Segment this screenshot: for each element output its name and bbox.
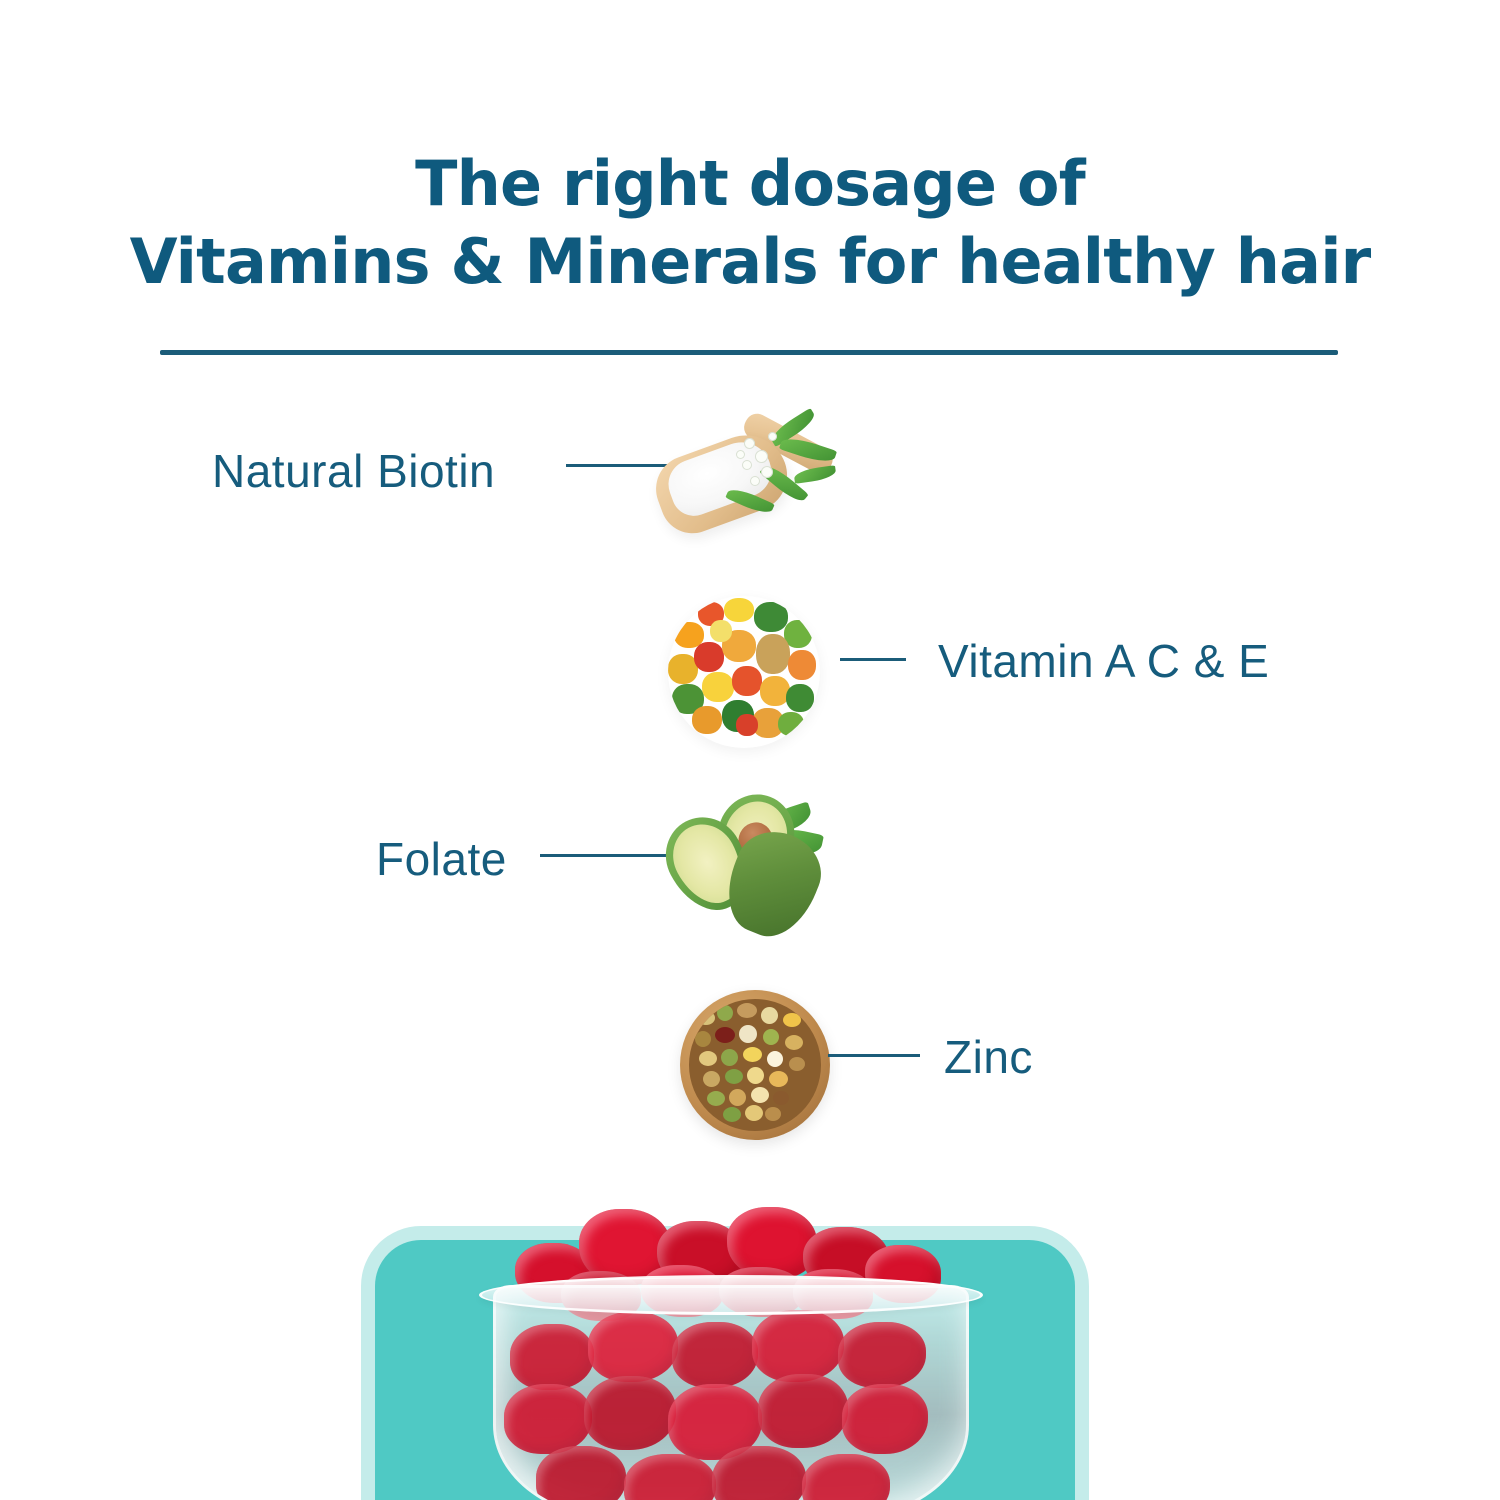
avocado-halves-photo [668, 794, 833, 934]
infographic-page: The right dosage of Vitamins & Minerals … [0, 0, 1500, 1500]
white-flower-icon [761, 466, 773, 478]
legume-piece [703, 1071, 720, 1087]
ingredient-label-vitamin-ace: Vitamin A C & E [938, 638, 1269, 684]
legume-piece [773, 1091, 789, 1105]
produce-piece [754, 602, 788, 632]
gummy-piece-inside [838, 1322, 926, 1388]
produce-piece [732, 666, 762, 696]
gummy-piece-inside [624, 1454, 716, 1500]
white-flower-icon [750, 476, 760, 486]
gummy-piece-inside [588, 1312, 678, 1382]
produce-piece [778, 712, 804, 736]
legume-piece [707, 1091, 725, 1106]
gummy-piece-inside [672, 1322, 758, 1388]
produce-piece [692, 706, 722, 734]
gummy-piece-inside [842, 1384, 928, 1454]
legume-piece [783, 1013, 801, 1027]
legume-mix-area [689, 999, 821, 1131]
legume-piece [695, 1031, 711, 1047]
ingredient-row-natural-biotin: Natural Biotin [0, 400, 1500, 570]
produce-piece [788, 650, 816, 680]
page-title-line-2: Vitamins & Minerals for healthy hair [0, 223, 1500, 301]
legume-piece [789, 1057, 805, 1071]
gummy-piece-inside [802, 1454, 890, 1500]
legume-piece [743, 1047, 762, 1062]
ingredient-label-zinc: Zinc [944, 1034, 1033, 1080]
ingredient-row-vitamin-ace: Vitamin A C & E [0, 590, 1500, 760]
produce-piece [724, 598, 754, 622]
fruits-and-vegetables-circle-photo [668, 596, 820, 748]
glass-bowl-shape [493, 1285, 969, 1500]
white-flower-icon [768, 432, 777, 441]
ingredient-row-folate: Folate [0, 790, 1500, 960]
leader-line-zinc [828, 1054, 920, 1057]
legume-piece [765, 1107, 781, 1121]
ingredient-label-natural-biotin: Natural Biotin [212, 448, 495, 494]
white-flower-icon [744, 438, 755, 449]
produce-piece [702, 672, 734, 702]
white-flower-icon [755, 450, 768, 463]
legume-piece [697, 1011, 715, 1025]
gummy-piece-inside [584, 1376, 676, 1450]
page-title: The right dosage of Vitamins & Minerals … [0, 145, 1500, 301]
leader-line-vitamin-ace [840, 658, 906, 661]
wooden-scoop-white-powder-herbs-photo [648, 402, 848, 552]
legume-piece [717, 1005, 733, 1021]
produce-piece [756, 634, 790, 674]
gummy-piece-inside [712, 1446, 806, 1500]
legume-piece [747, 1067, 764, 1084]
produce-piece [736, 714, 758, 736]
gummy-piece-inside [510, 1324, 594, 1390]
white-flower-icon [736, 450, 745, 459]
legume-piece [751, 1087, 769, 1103]
gummy-piece-inside [504, 1384, 592, 1454]
legume-piece [723, 1107, 741, 1122]
legume-piece [721, 1049, 738, 1066]
legume-piece [767, 1051, 783, 1067]
ingredient-label-folate: Folate [376, 836, 507, 882]
gummy-piece-inside [536, 1446, 626, 1500]
wooden-bowl-legumes-photo [680, 990, 830, 1140]
page-title-line-1: The right dosage of [0, 145, 1500, 223]
herb-leaf-icon [793, 465, 836, 484]
legume-piece [745, 1105, 763, 1121]
leader-line-folate [540, 854, 682, 857]
gummy-piece-inside [752, 1310, 844, 1382]
produce-piece [786, 684, 814, 712]
legume-piece [699, 1051, 717, 1066]
glass-bowl-of-red-gummies-photo [455, 1205, 1000, 1500]
legume-piece [729, 1089, 746, 1106]
produce-piece [694, 642, 724, 672]
legume-piece [785, 1035, 803, 1050]
legume-piece [739, 1025, 757, 1043]
glass-bowl-rim [479, 1275, 983, 1315]
legume-piece [763, 1029, 779, 1045]
legume-piece [769, 1071, 788, 1087]
legume-piece [737, 1003, 757, 1018]
gummy-piece-inside [758, 1374, 848, 1448]
produce-piece [710, 620, 732, 642]
legume-piece [715, 1027, 735, 1043]
white-flower-icon [742, 460, 752, 470]
ingredient-row-zinc: Zinc [0, 990, 1500, 1160]
title-divider [160, 350, 1338, 355]
legume-piece [725, 1069, 743, 1084]
legume-piece [761, 1007, 778, 1024]
